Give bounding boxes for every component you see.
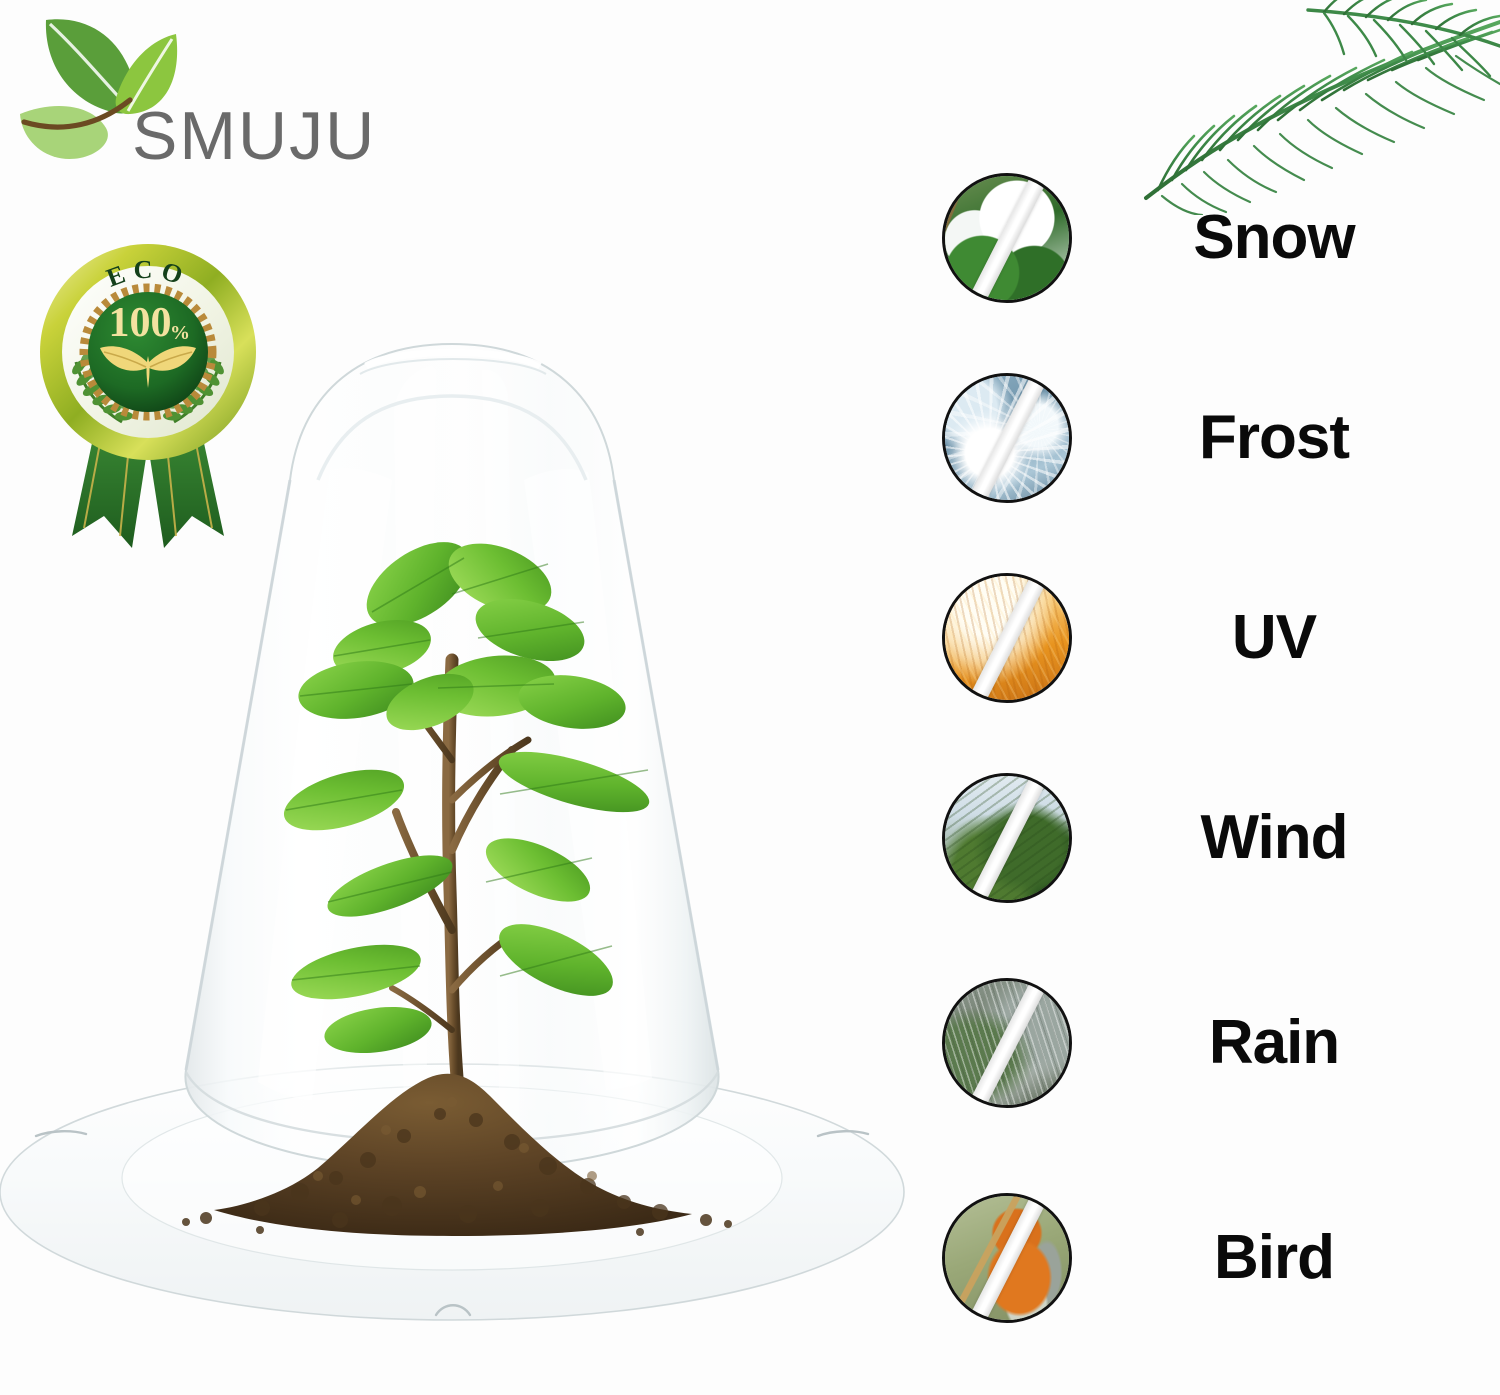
feature-label-uv: UV: [1072, 607, 1500, 669]
snow-photo-icon: [942, 173, 1072, 303]
bird-photo-icon: [942, 1193, 1072, 1323]
frost-photo-icon: [942, 373, 1072, 503]
plant-cloche-icon: [0, 330, 935, 1340]
feature-row-wind[interactable]: Wind: [920, 770, 1500, 905]
feature-label-snow: Snow: [1072, 207, 1500, 269]
feature-label-wind: Wind: [1072, 807, 1500, 869]
brand-wordmark: SMUJU: [132, 102, 376, 170]
feature-label-rain: Rain: [1072, 1012, 1500, 1074]
wind-photo-icon: [942, 773, 1072, 903]
uv-photo-icon: [942, 573, 1072, 703]
feature-label-frost: Frost: [1072, 407, 1500, 469]
rain-photo-icon: [942, 978, 1072, 1108]
feature-row-uv[interactable]: UV: [920, 570, 1500, 705]
feature-row-bird[interactable]: Bird: [920, 1190, 1500, 1325]
brand-logo: SMUJU: [14, 8, 394, 178]
feature-list: Snow Frost UV: [920, 170, 1500, 1395]
feature-row-frost[interactable]: Frost: [920, 370, 1500, 505]
product-marketing-image: SMUJU: [0, 0, 1500, 1395]
feature-row-rain[interactable]: Rain: [920, 975, 1500, 1110]
feature-label-bird: Bird: [1072, 1227, 1500, 1289]
feature-row-snow[interactable]: Snow: [920, 170, 1500, 305]
